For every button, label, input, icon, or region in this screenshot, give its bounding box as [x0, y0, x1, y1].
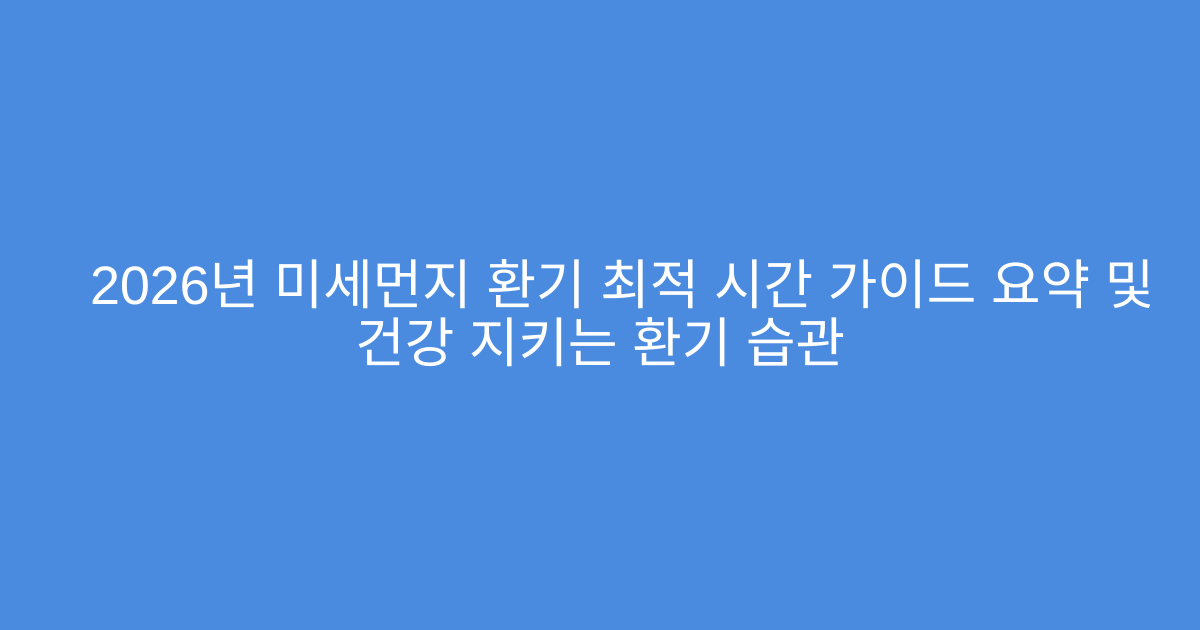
page-title-line-1: 2026년 미세먼지 환기 최적 시간 가이드 요약 및	[90, 257, 1110, 315]
og-card: 2026년 미세먼지 환기 최적 시간 가이드 요약 및 건강 지키는 환기 습…	[0, 0, 1200, 630]
page-title-line-2: 건강 지키는 환기 습관	[90, 315, 1110, 373]
page-title: 2026년 미세먼지 환기 최적 시간 가이드 요약 및 건강 지키는 환기 습…	[70, 257, 1130, 373]
